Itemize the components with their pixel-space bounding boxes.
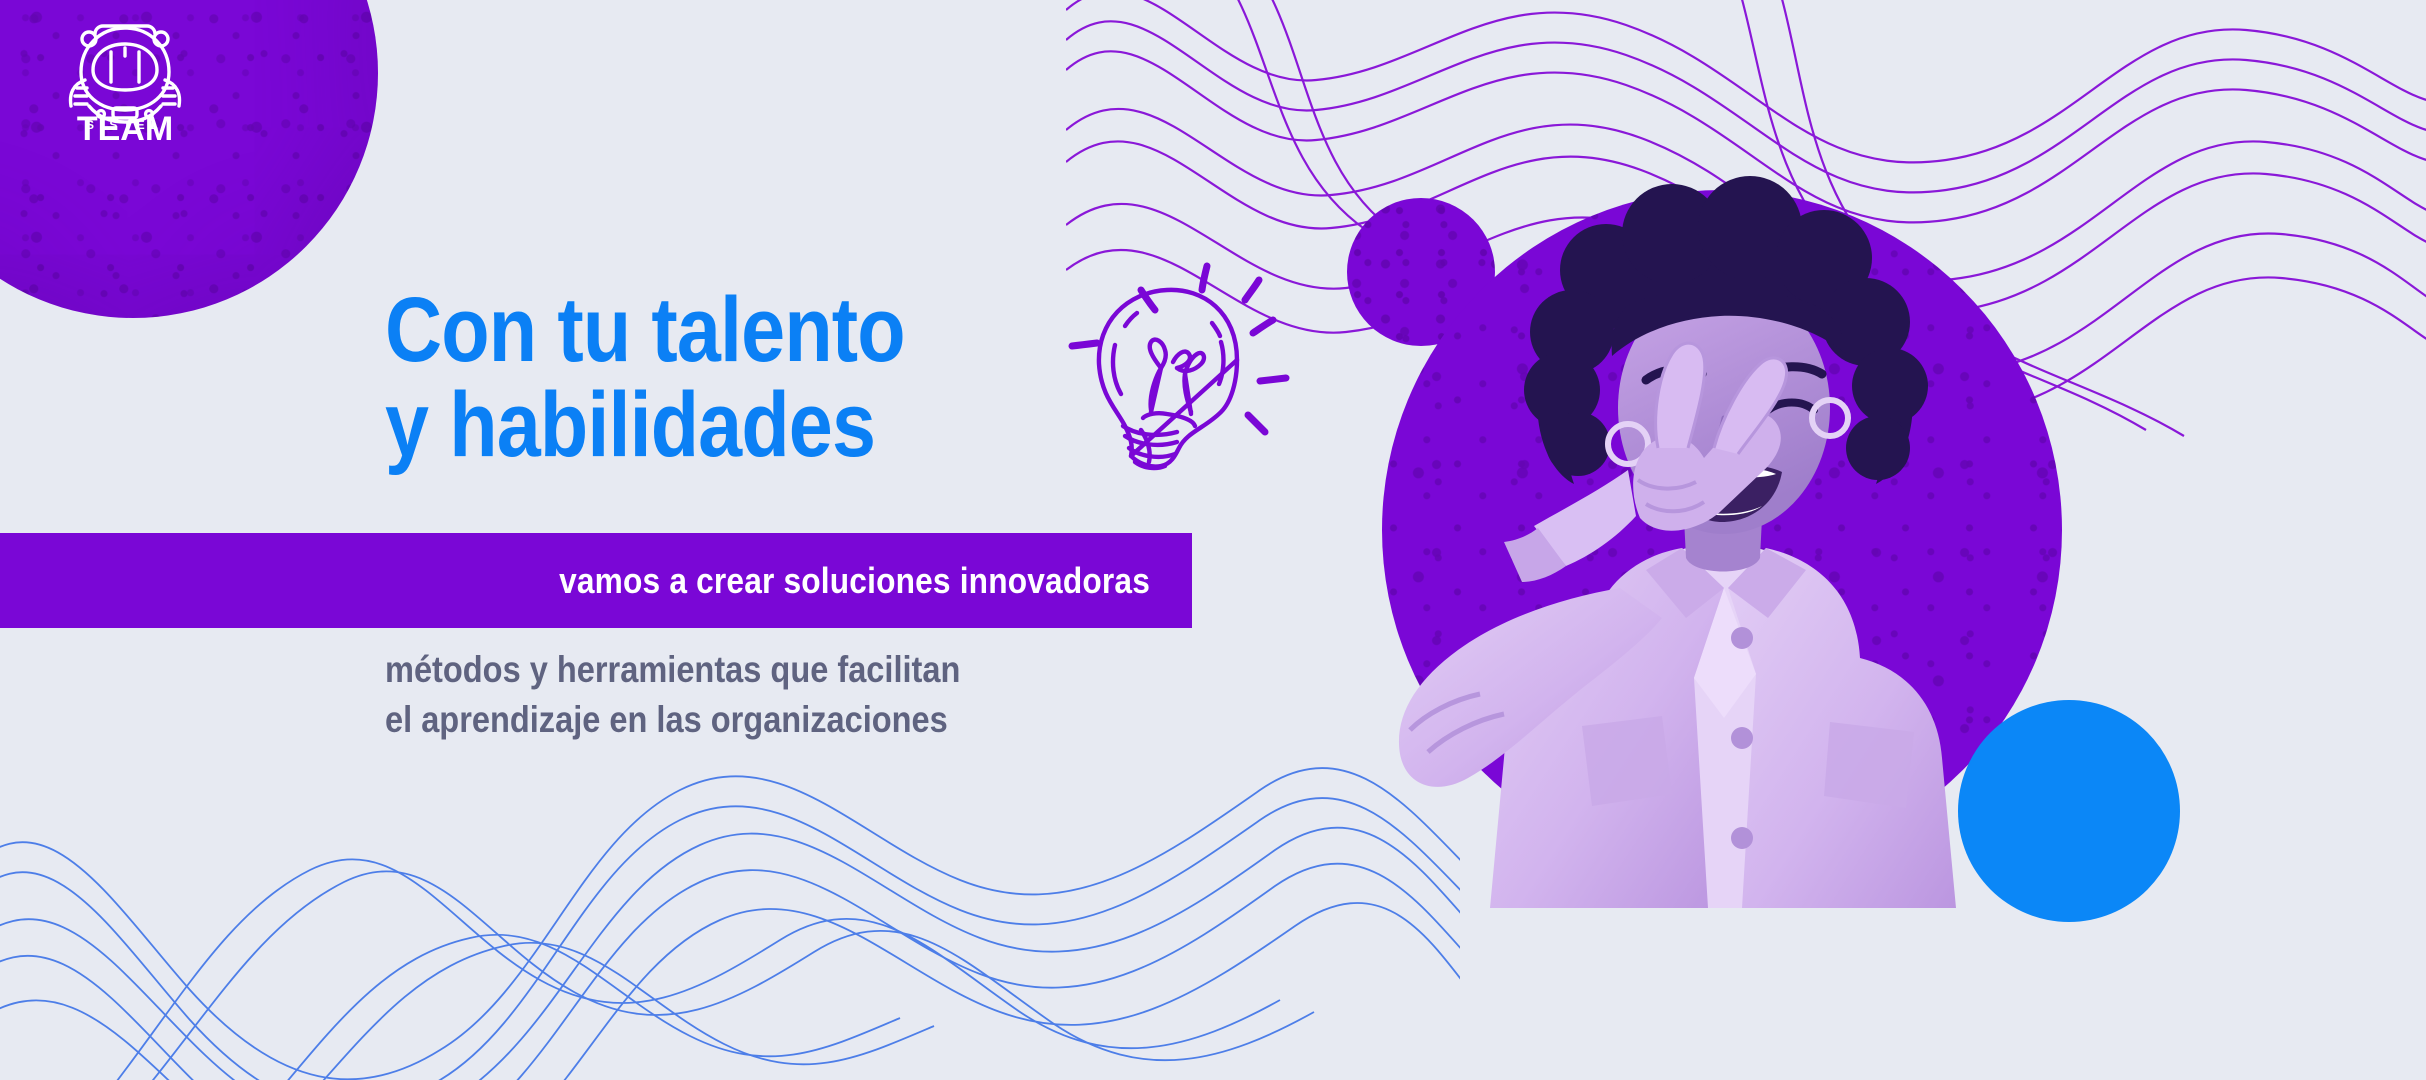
logo-secondary-text: SISTEL [55, 118, 195, 132]
blue-circle [1958, 700, 2180, 922]
eyebrow-text: vamos a crear soluciones innovadoras [138, 533, 1150, 628]
lightbulb-doodle-icon [1055, 250, 1305, 515]
promo-banner: TEAM SISTEL Con tu talento y habilidades… [0, 0, 2426, 1080]
subtitle: métodos y herramientas que facilitan el … [385, 645, 960, 745]
eyebrow-band: vamos a crear soluciones innovadoras [0, 533, 1192, 628]
blue-wave-lines [0, 750, 1460, 1080]
page-title: Con tu talento y habilidades [385, 283, 905, 473]
